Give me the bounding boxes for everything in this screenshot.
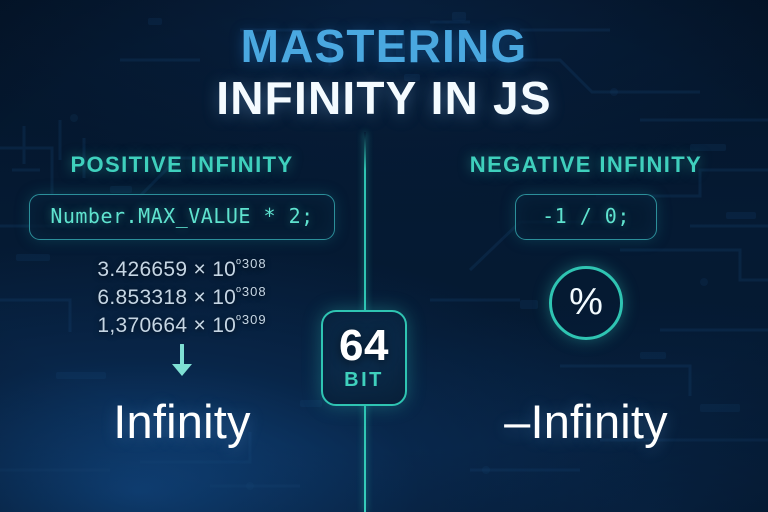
number-mantissa: 1,370664 × 10: [97, 314, 236, 337]
number-row: 1,370664 × 10º309: [97, 312, 266, 338]
negative-result-label: –Infinity: [404, 394, 768, 449]
positive-code-snippet: Number.MAX_VALUE * 2;: [29, 194, 334, 240]
percent-glyph: %: [569, 283, 603, 321]
negative-infinity-section: NEGATIVE INFINITY -1 / 0; %: [410, 152, 762, 340]
number-row: 3.426659 × 10º308: [97, 256, 266, 282]
number-exponent: º309: [236, 312, 266, 327]
page-title: MASTERING INFINITY IN JS: [0, 22, 768, 123]
bit-unit-label: BIT: [344, 369, 384, 392]
arrow-down-icon: [6, 344, 358, 378]
negative-code-snippet: -1 / 0;: [515, 194, 657, 240]
infographic-canvas: MASTERING INFINITY IN JS POSITIVE INFINI…: [0, 0, 768, 512]
positive-infinity-section: POSITIVE INFINITY Number.MAX_VALUE * 2; …: [6, 152, 358, 378]
positive-infinity-heading: POSITIVE INFINITY: [6, 152, 358, 178]
percent-circle-outline: %: [549, 266, 623, 340]
number-mantissa: 3.426659 × 10: [97, 258, 236, 281]
bit-number: 64: [339, 324, 389, 367]
positive-number-list: 3.426659 × 10º308 6.853318 × 10º308 1,37…: [6, 256, 358, 338]
number-row: 6.853318 × 10º308: [97, 284, 266, 310]
number-mantissa: 6.853318 × 10: [97, 286, 236, 309]
number-exponent: º308: [236, 256, 266, 271]
percent-circle-icon: %: [410, 266, 762, 340]
title-line-2: INFINITY IN JS: [0, 73, 768, 124]
negative-infinity-heading: NEGATIVE INFINITY: [410, 152, 762, 178]
bit-width-badge: 64 BIT: [321, 310, 407, 406]
number-exponent: º308: [236, 284, 266, 299]
title-line-1: MASTERING: [0, 22, 768, 71]
positive-result-label: Infinity: [0, 394, 364, 449]
